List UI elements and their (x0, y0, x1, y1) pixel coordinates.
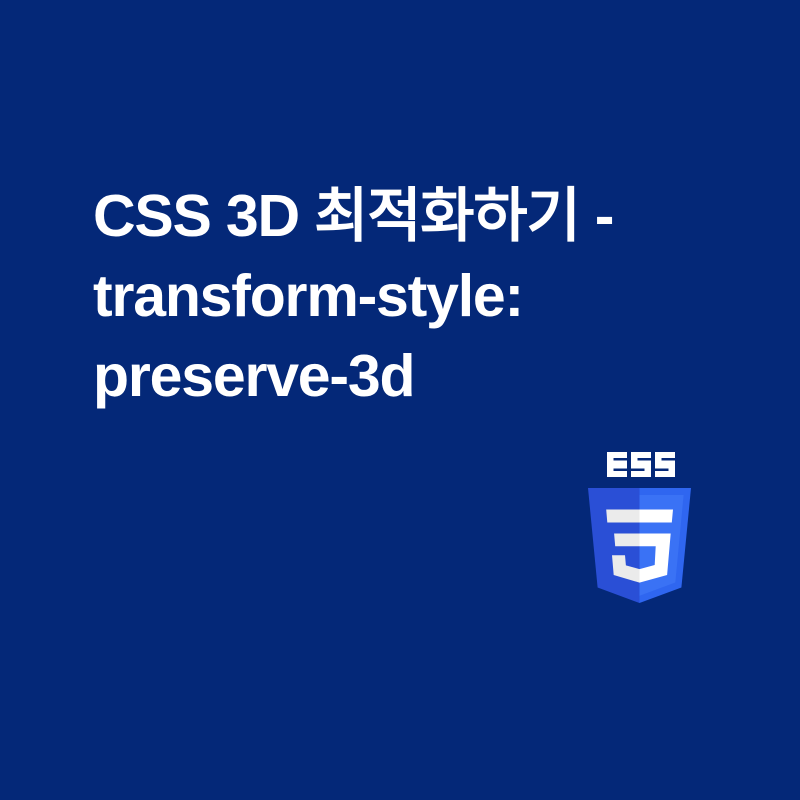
title-line-2: transform-style: (93, 256, 713, 336)
title-line-1: CSS 3D 최적화하기 - (93, 176, 713, 256)
cover-canvas: CSS 3D 최적화하기 - transform-style: preserve… (0, 0, 800, 800)
css-wordmark-icon (607, 452, 675, 477)
page-title: CSS 3D 최적화하기 - transform-style: preserve… (93, 176, 713, 416)
css3-shield-icon (588, 488, 691, 603)
css3-logo (588, 452, 691, 603)
title-line-3: preserve-3d (93, 336, 713, 416)
